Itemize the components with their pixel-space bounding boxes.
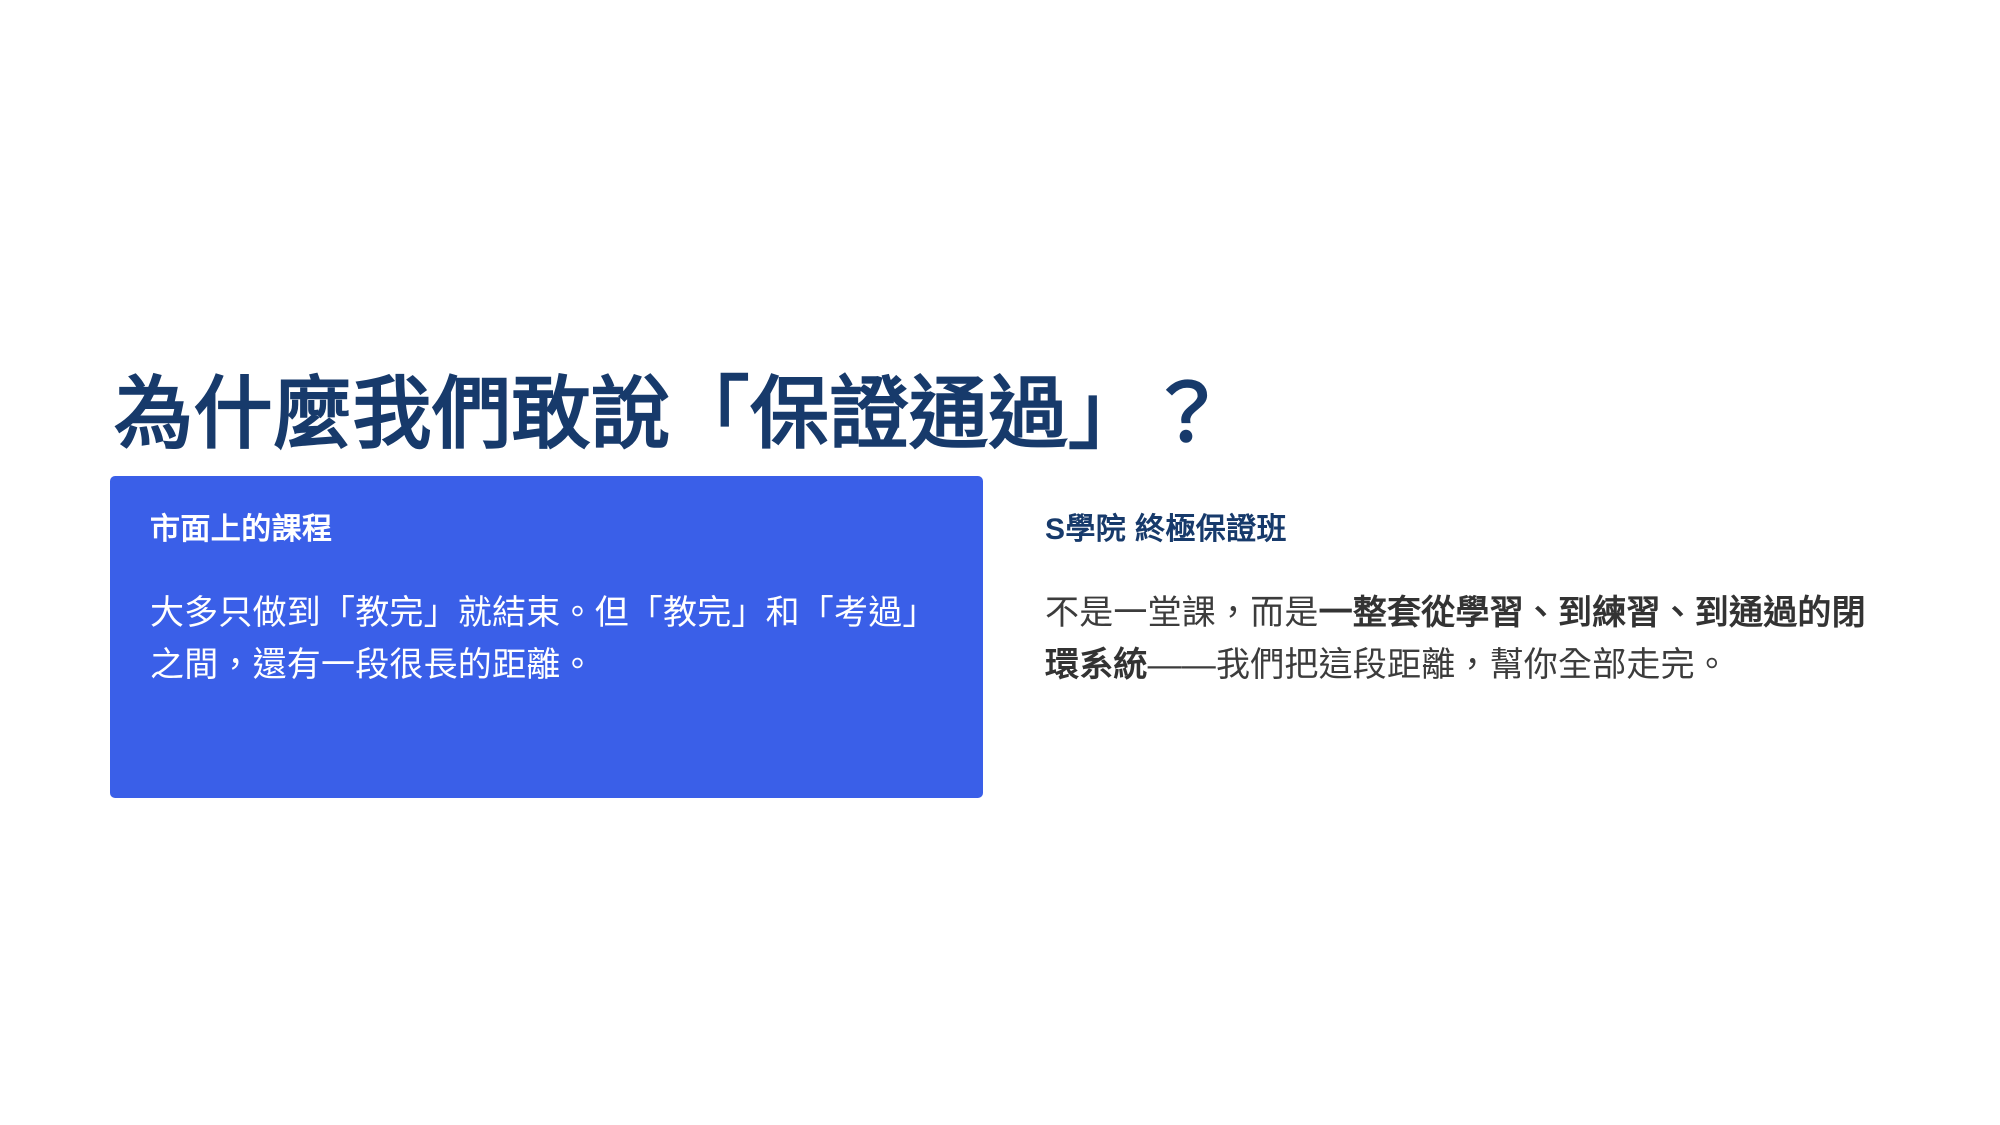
s-academy-body: 不是一堂課，而是一整套從學習、到練習、到通過的閉環系統——我們把這段距離，幫你全… <box>1045 587 1869 692</box>
slide-root: 為什麼我們敢說「保證通過」？ 市面上的課程 大多只做到「教完」就結束。但「教完」… <box>0 0 2000 1125</box>
page-title: 為什麼我們敢說「保證通過」？ <box>114 370 1814 458</box>
s-academy-body-tail: ——我們把這段距離，幫你全部走完。 <box>1148 646 1729 684</box>
s-academy-body-lead: 不是一堂課，而是 <box>1045 594 1319 632</box>
market-courses-body: 大多只做到「教完」就結束。但「教完」和「考過」之間，還有一段很長的距離。 <box>150 587 940 692</box>
market-courses-card: 市面上的課程 大多只做到「教完」就結束。但「教完」和「考過」之間，還有一段很長的… <box>110 476 983 798</box>
s-academy-column: S學院 終極保證班 不是一堂課，而是一整套從學習、到練習、到通過的閉環系統——我… <box>1045 476 1875 692</box>
comparison-columns: 市面上的課程 大多只做到「教完」就結束。但「教完」和「考過」之間，還有一段很長的… <box>0 476 2000 896</box>
market-courses-heading: 市面上的課程 <box>150 510 943 551</box>
s-academy-heading: S學院 終極保證班 <box>1045 510 1875 551</box>
